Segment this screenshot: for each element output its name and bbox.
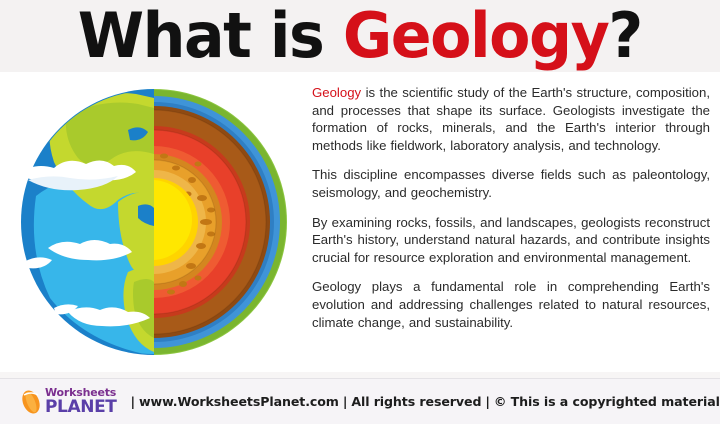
worksheets-planet-logo[interactable]: Worksheets PLANET xyxy=(20,387,117,416)
worksheet-poster: What is Geology? xyxy=(0,0,720,424)
footer-separator-2: | xyxy=(339,394,352,409)
description-text: Geology is the scientific study of the E… xyxy=(312,84,710,368)
planet-logo-icon xyxy=(20,389,42,415)
page-title: What is Geology? xyxy=(78,5,642,67)
logo-text-planet: PLANET xyxy=(45,399,117,416)
title-question-mark: ? xyxy=(609,0,642,72)
title-banner: What is Geology? xyxy=(0,0,720,72)
footer-website[interactable]: www.WorksheetsPlanet.com xyxy=(139,394,339,409)
paragraph-3: By examining rocks, fossils, and landsca… xyxy=(312,214,710,267)
title-part-what-is: What is xyxy=(78,0,343,72)
footer-credits: |www.WorksheetsPlanet.com|All rights res… xyxy=(127,394,720,409)
earth-cutaway-diagram xyxy=(6,76,302,368)
title-part-geology: Geology xyxy=(343,0,608,72)
footer-rights: All rights reserved xyxy=(351,394,481,409)
paragraph-1-text: is the scientific study of the Earth's s… xyxy=(312,85,710,153)
paragraph-2: This discipline encompasses diverse fiel… xyxy=(312,166,710,201)
paragraph-1: Geology is the scientific study of the E… xyxy=(312,84,710,154)
footer-copyright: © This is a copyrighted material xyxy=(494,394,720,409)
footer-separator-1: | xyxy=(127,394,140,409)
footer-bar: Worksheets PLANET |www.WorksheetsPlanet.… xyxy=(0,379,720,424)
content-area: Geology is the scientific study of the E… xyxy=(0,72,720,372)
footer-separator-3: | xyxy=(481,394,494,409)
keyword-geology: Geology xyxy=(312,85,361,100)
paragraph-4: Geology plays a fundamental role in comp… xyxy=(312,278,710,331)
